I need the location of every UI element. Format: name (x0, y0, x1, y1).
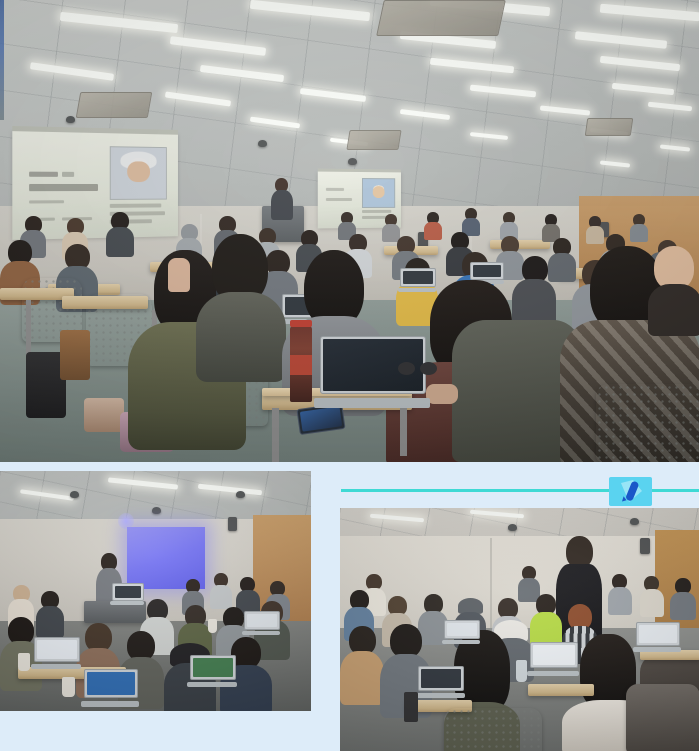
laptop-screen (470, 262, 504, 280)
desk (528, 684, 594, 696)
desk-leg (272, 408, 279, 462)
coffee-cup (18, 653, 30, 671)
foreground-attendee-dark-hair (196, 234, 286, 376)
attendee-body (196, 292, 286, 382)
bag (84, 398, 124, 432)
bag-body (84, 398, 124, 432)
laptop (530, 642, 576, 676)
bag (60, 330, 90, 380)
laptop (34, 637, 78, 669)
attendee (640, 576, 664, 614)
ceiling-vent (376, 0, 506, 36)
raised-hand (168, 258, 190, 292)
laptop-screen (244, 611, 280, 630)
bottle-cap (290, 320, 312, 327)
attendee-facing-camera (648, 246, 699, 332)
slide-title-line (326, 188, 344, 191)
screen-roller-bar (318, 169, 401, 173)
laptop-screen (530, 642, 578, 668)
laptop (444, 620, 478, 644)
attendee-body (608, 587, 632, 615)
ceiling-camera (258, 140, 267, 147)
laptop-screen (418, 666, 464, 691)
attendee-green-top (530, 594, 562, 644)
slide-body-line (110, 203, 162, 207)
laptop-screen (444, 620, 480, 639)
ceiling-speaker (630, 518, 639, 525)
bottle-prop (516, 660, 527, 682)
photo-classroom-instructor (0, 471, 311, 711)
attendee (670, 578, 696, 618)
ceiling-vent (585, 118, 634, 136)
attendee-body (640, 589, 664, 617)
chair (444, 708, 542, 751)
ceiling-camera (152, 507, 161, 514)
speaker-portrait (362, 178, 395, 208)
desk-leg (400, 408, 407, 456)
coffee-cup (208, 619, 217, 633)
laptop-base (314, 398, 430, 408)
coffee-cup (62, 677, 75, 697)
laptop-base (81, 701, 139, 707)
chair-upholstered (626, 684, 699, 751)
pen-badge[interactable] (609, 477, 652, 506)
ceiling-camera (70, 491, 79, 498)
hero-photo-lecture-hall (0, 0, 699, 462)
laptop-base (110, 601, 144, 605)
portrait-face (372, 186, 384, 198)
laptop (636, 622, 678, 652)
wall-speaker (228, 517, 237, 531)
ceiling-speaker (236, 491, 245, 498)
laptop (418, 666, 462, 698)
attendee (500, 212, 518, 238)
attendee-head (390, 624, 422, 658)
presenter (270, 178, 294, 218)
laptop-base (242, 631, 280, 635)
slide-heading-line (29, 184, 98, 191)
ceiling-speaker (66, 116, 75, 123)
student-body (210, 585, 232, 609)
slide-subtext-line (29, 200, 64, 203)
laptop (84, 669, 136, 707)
ceiling-vent (76, 92, 153, 118)
attendee (608, 574, 632, 612)
slide-body-line (362, 210, 391, 213)
ceiling-camera (348, 158, 357, 165)
presenter-body (271, 190, 293, 220)
attendee-body (670, 592, 696, 620)
laptop-screen (636, 622, 680, 646)
laptop-base (31, 664, 80, 669)
glasses-lens (398, 362, 415, 375)
slide-title-line (29, 172, 58, 177)
laptop-screen (34, 637, 80, 662)
laptop-screen (84, 669, 138, 698)
collage-page (0, 0, 699, 751)
wall-speaker (640, 538, 650, 554)
attendee (424, 212, 442, 238)
attendee-body (424, 222, 442, 240)
hand-shape (168, 258, 190, 292)
photo-classroom-standing-participant (340, 508, 699, 751)
bottle-label (290, 355, 312, 375)
attendee (630, 214, 648, 240)
cola-bottle (290, 326, 312, 402)
attendee-body (630, 224, 648, 242)
slide-title-line (62, 172, 74, 177)
attendee (542, 214, 560, 240)
attendee (340, 626, 384, 702)
laptop-base (442, 640, 480, 644)
student (210, 573, 232, 607)
left-edge-strip (0, 0, 4, 120)
einstein-portrait (110, 146, 167, 200)
tumbler (404, 692, 418, 722)
bag-body (60, 330, 90, 380)
pen-icon (609, 477, 652, 506)
laptop-base (415, 693, 464, 698)
slide-subtext-line (326, 198, 352, 201)
laptop-base (187, 682, 236, 687)
shot-a-scene (0, 471, 311, 711)
laptop-base (527, 671, 579, 676)
portrait-face (128, 161, 150, 183)
hero-scene (0, 0, 699, 462)
ceiling-camera (508, 524, 517, 531)
shot-b-scene (340, 508, 699, 751)
attendee (462, 208, 480, 234)
attendee-body (648, 284, 699, 336)
laptop-base (633, 647, 680, 652)
laptop-screen (190, 655, 236, 680)
ceiling-vent (346, 130, 401, 150)
instructor-laptop (112, 583, 142, 605)
laptop (190, 655, 234, 687)
attendee-body (340, 651, 384, 705)
laptop (244, 611, 278, 635)
chair (596, 384, 699, 462)
